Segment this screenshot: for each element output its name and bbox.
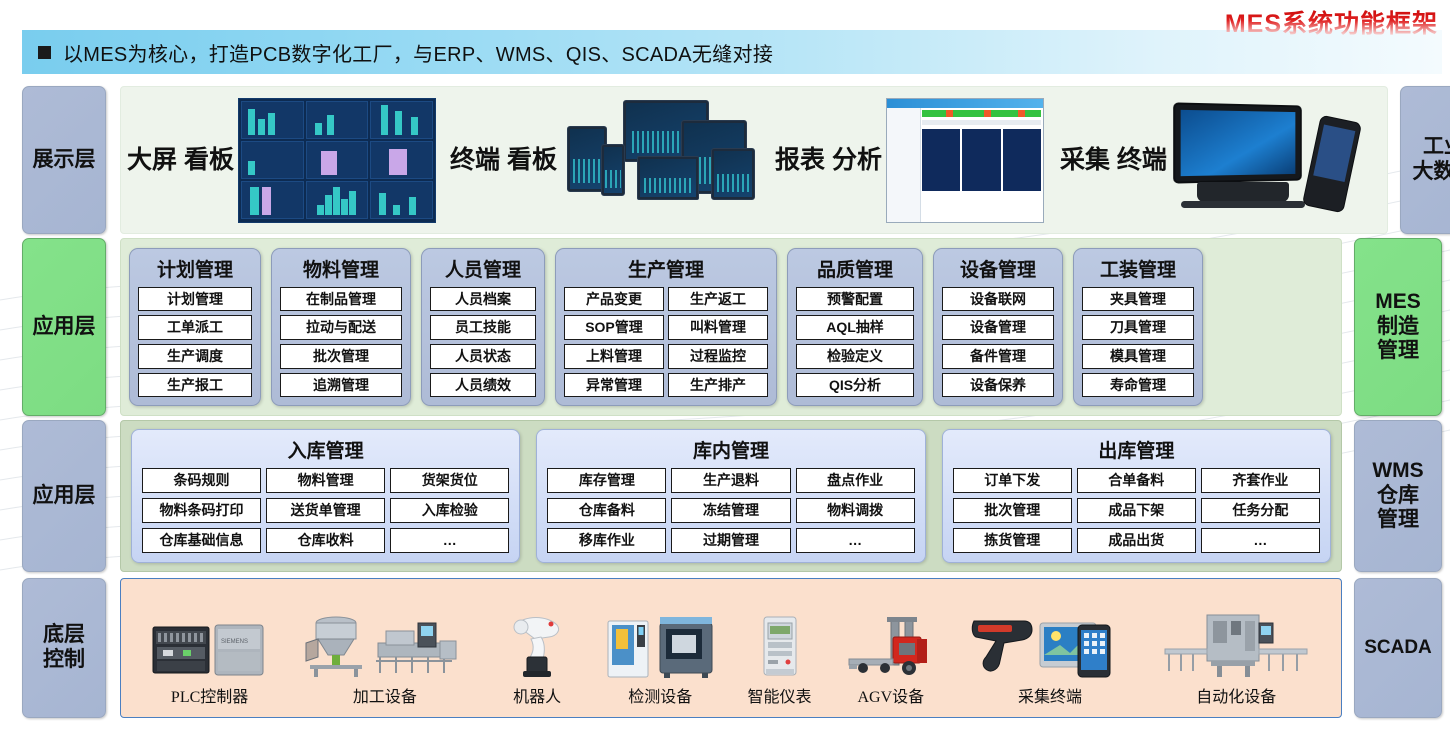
row-wms: 应用层 入库管理 条码规则 物料管理 货架货位 物料条码打印 送货单管理 入库检… <box>22 420 1442 572</box>
chip[interactable]: 拣货管理 <box>953 528 1072 553</box>
chip[interactable]: 设备管理 <box>942 315 1054 340</box>
chip[interactable]: 入库检验 <box>390 498 509 523</box>
scada-item-label: 采集终端 <box>1018 683 1082 707</box>
chip[interactable]: 备件管理 <box>942 344 1054 369</box>
chip[interactable]: 合单备料 <box>1077 468 1196 493</box>
big-screen-dashboard-image <box>238 98 436 223</box>
chip[interactable]: 追溯管理 <box>280 373 402 398</box>
scada-item-label: 检测设备 <box>628 683 692 707</box>
architecture-frame: 展示层 大屏 看板 <box>22 86 1442 726</box>
chip[interactable]: 产品变更 <box>564 287 664 312</box>
chip[interactable]: 成品出货 <box>1077 528 1196 553</box>
chip[interactable]: 拉动与配送 <box>280 315 402 340</box>
chip[interactable]: 生产调度 <box>138 344 252 369</box>
scada-item-label: 自动化设备 <box>1196 683 1276 707</box>
chip[interactable]: … <box>796 528 915 553</box>
chip[interactable]: 寿命管理 <box>1082 373 1194 398</box>
robot-arm-icon <box>501 613 573 679</box>
chip[interactable]: … <box>390 528 509 553</box>
chip[interactable]: 生产退料 <box>671 468 790 493</box>
scada-item-label: PLC控制器 <box>171 683 248 707</box>
automation-line-icon <box>1161 613 1311 679</box>
layer-label-bottom-control: 底层 控制 <box>22 578 106 718</box>
row-mes: 应用层 计划管理 计划管理 工单派工 生产调度 生产报工 物料管理 在制品管理 <box>22 238 1442 416</box>
scada-item-label: AGV设备 <box>857 683 924 707</box>
chip[interactable]: 成品下架 <box>1077 498 1196 523</box>
mes-card-tooling[interactable]: 工装管理 夹具管理 刀具管理 模具管理 寿命管理 <box>1073 248 1203 407</box>
display-layer-panel: 大屏 看板 <box>120 86 1388 234</box>
scada-item-inspection[interactable]: 检测设备 <box>604 613 716 707</box>
chip[interactable]: 计划管理 <box>138 287 252 312</box>
display-item-label-big-screen: 大屏 看板 <box>127 146 234 174</box>
chip[interactable]: 盘点作业 <box>796 468 915 493</box>
chip[interactable]: … <box>1201 528 1320 553</box>
card-title: 设备管理 <box>942 255 1054 282</box>
scada-layer-panel: SIEMENS PLC控制器 <box>120 578 1342 718</box>
chip[interactable]: 叫料管理 <box>668 315 768 340</box>
layer-label-text: 展示层 <box>33 148 96 173</box>
chip[interactable]: 批次管理 <box>953 498 1072 523</box>
layer-label-application-wms: 应用层 <box>22 420 106 572</box>
chip[interactable]: 物料调拨 <box>796 498 915 523</box>
chip[interactable]: 批次管理 <box>280 344 402 369</box>
card-title: 计划管理 <box>138 255 252 282</box>
pos-terminal-and-handheld-image <box>1171 100 1381 220</box>
banner-text: 以MES为核心，打造PCB数字化工厂，与ERP、WMS、QIS、SCADA无缝对… <box>63 38 773 67</box>
mes-card-list: 计划管理 计划管理 工单派工 生产调度 生产报工 物料管理 在制品管理 拉动与配… <box>121 239 1341 415</box>
scada-item-list: SIEMENS PLC控制器 <box>121 579 1341 717</box>
chip[interactable]: 上料管理 <box>564 344 664 369</box>
right-label-scada: SCADA <box>1354 578 1442 718</box>
chip[interactable]: 过程监控 <box>668 344 768 369</box>
chip[interactable]: 任务分配 <box>1201 498 1320 523</box>
row-display: 展示层 大屏 看板 <box>22 86 1442 234</box>
chip[interactable]: 仓库收料 <box>266 528 385 553</box>
barcode-scanner-tablet-icon <box>970 613 1130 679</box>
chip[interactable]: 过期管理 <box>671 528 790 553</box>
display-item-label-report: 报表 分析 <box>775 146 882 174</box>
chip[interactable]: 货架货位 <box>390 468 509 493</box>
card-title: 生产管理 <box>564 255 768 282</box>
wms-card-outbound[interactable]: 出库管理 订单下发 合单备料 齐套作业 批次管理 成品下架 任务分配 拣货管理 … <box>942 429 1331 562</box>
chip[interactable]: 预警配置 <box>796 287 914 312</box>
card-title: 入库管理 <box>142 436 509 463</box>
chip[interactable]: 人员状态 <box>430 344 536 369</box>
scada-item-label: 智能仪表 <box>748 683 812 707</box>
plc-controller-icon: SIEMENS <box>151 613 269 679</box>
smart-meter-icon <box>754 613 806 679</box>
scada-item-label: 加工设备 <box>353 683 417 707</box>
mes-card-equipment[interactable]: 设备管理 设备联网 设备管理 备件管理 设备保养 <box>933 248 1063 407</box>
card-title: 品质管理 <box>796 255 914 282</box>
chip[interactable]: 仓库备料 <box>547 498 666 523</box>
chip[interactable]: 设备保养 <box>942 373 1054 398</box>
mes-card-material[interactable]: 物料管理 在制品管理 拉动与配送 批次管理 追溯管理 <box>271 248 411 407</box>
chip[interactable]: 生产报工 <box>138 373 252 398</box>
display-item-label-terminal: 终端 看板 <box>450 146 557 174</box>
page-title: MES系统功能框架 <box>1225 4 1438 40</box>
chip[interactable]: 冻结管理 <box>671 498 790 523</box>
chip[interactable]: 移库作业 <box>547 528 666 553</box>
mes-card-personnel[interactable]: 人员管理 人员档案 员工技能 人员状态 人员绩效 <box>421 248 545 407</box>
scada-item-machining[interactable]: 加工设备 <box>300 613 470 707</box>
chip[interactable]: 人员档案 <box>430 287 536 312</box>
chip[interactable]: 物料管理 <box>266 468 385 493</box>
scada-item-plc[interactable]: SIEMENS PLC控制器 <box>151 613 269 707</box>
chip[interactable]: 生产返工 <box>668 287 768 312</box>
card-title: 物料管理 <box>280 255 402 282</box>
card-title: 出库管理 <box>953 436 1320 463</box>
scada-item-collect-terminal[interactable]: 采集终端 <box>970 613 1130 707</box>
machining-equipment-icon <box>300 613 470 679</box>
wms-card-instore[interactable]: 库内管理 库存管理 生产退料 盘点作业 仓库备料 冻结管理 物料调拨 移库作业 … <box>536 429 925 562</box>
mes-card-plan[interactable]: 计划管理 计划管理 工单派工 生产调度 生产报工 <box>129 248 261 407</box>
chip[interactable]: 设备联网 <box>942 287 1054 312</box>
square-bullet-icon <box>38 46 51 59</box>
chip[interactable]: 刀具管理 <box>1082 315 1194 340</box>
chip[interactable]: AQL抽样 <box>796 315 914 340</box>
chip[interactable]: 在制品管理 <box>280 287 402 312</box>
chip[interactable]: 夹具管理 <box>1082 287 1194 312</box>
chip[interactable]: 订单下发 <box>953 468 1072 493</box>
chip[interactable]: 员工技能 <box>430 315 536 340</box>
chip[interactable]: 库存管理 <box>547 468 666 493</box>
chip[interactable]: 条码规则 <box>142 468 261 493</box>
chip[interactable]: 仓库基础信息 <box>142 528 261 553</box>
right-label-mes: MES 制造 管理 <box>1354 238 1442 416</box>
chip[interactable]: QIS分析 <box>796 373 914 398</box>
mes-card-production[interactable]: 生产管理 产品变更 生产返工 SOP管理 叫料管理 上料管理 过程监控 异常管理… <box>555 248 777 407</box>
card-title: 人员管理 <box>430 255 536 282</box>
wms-card-list: 入库管理 条码规则 物料管理 货架货位 物料条码打印 送货单管理 入库检验 仓库… <box>121 421 1341 571</box>
scada-item-agv[interactable]: AGV设备 <box>843 613 939 707</box>
chip[interactable]: 模具管理 <box>1082 344 1194 369</box>
chip[interactable]: 物料条码打印 <box>142 498 261 523</box>
mes-layer-panel: 计划管理 计划管理 工单派工 生产调度 生产报工 物料管理 在制品管理 拉动与配… <box>120 238 1342 416</box>
scada-item-robot[interactable]: 机器人 <box>501 613 573 707</box>
chip[interactable]: 齐套作业 <box>1201 468 1320 493</box>
chip[interactable]: 生产排产 <box>668 373 768 398</box>
layer-label-display: 展示层 <box>22 86 106 234</box>
chip[interactable]: 送货单管理 <box>266 498 385 523</box>
chip[interactable]: 检验定义 <box>796 344 914 369</box>
card-title: 库内管理 <box>547 436 914 463</box>
chip[interactable]: 工单派工 <box>138 315 252 340</box>
report-analysis-screenshot-image <box>886 98 1044 223</box>
agv-forklift-icon <box>843 613 939 679</box>
right-label-industrial-bigdata: 工业 大数据 <box>1400 86 1450 234</box>
test-chamber-icon <box>604 613 716 679</box>
wms-layer-panel: 入库管理 条码规则 物料管理 货架货位 物料条码打印 送货单管理 入库检验 仓库… <box>120 420 1342 572</box>
card-title: 工装管理 <box>1082 255 1194 282</box>
layer-label-application-mes: 应用层 <box>22 238 106 416</box>
scada-item-label: 机器人 <box>513 683 561 707</box>
display-item-label-collect: 采集 终端 <box>1060 146 1167 174</box>
chip[interactable]: 异常管理 <box>564 373 664 398</box>
mes-card-quality[interactable]: 品质管理 预警配置 AQL抽样 检验定义 QIS分析 <box>787 248 923 407</box>
chip[interactable]: SOP管理 <box>564 315 664 340</box>
scada-item-automation[interactable]: 自动化设备 <box>1161 613 1311 707</box>
multi-device-dashboard-image <box>561 96 759 224</box>
wms-card-inbound[interactable]: 入库管理 条码规则 物料管理 货架货位 物料条码打印 送货单管理 入库检验 仓库… <box>131 429 520 562</box>
chip[interactable]: 人员绩效 <box>430 373 536 398</box>
right-label-wms: WMS 仓库 管理 <box>1354 420 1442 572</box>
row-scada: 底层 控制 <box>22 578 1442 718</box>
svg-text:SIEMENS: SIEMENS <box>221 639 248 645</box>
scada-item-meter[interactable]: 智能仪表 <box>748 613 812 707</box>
